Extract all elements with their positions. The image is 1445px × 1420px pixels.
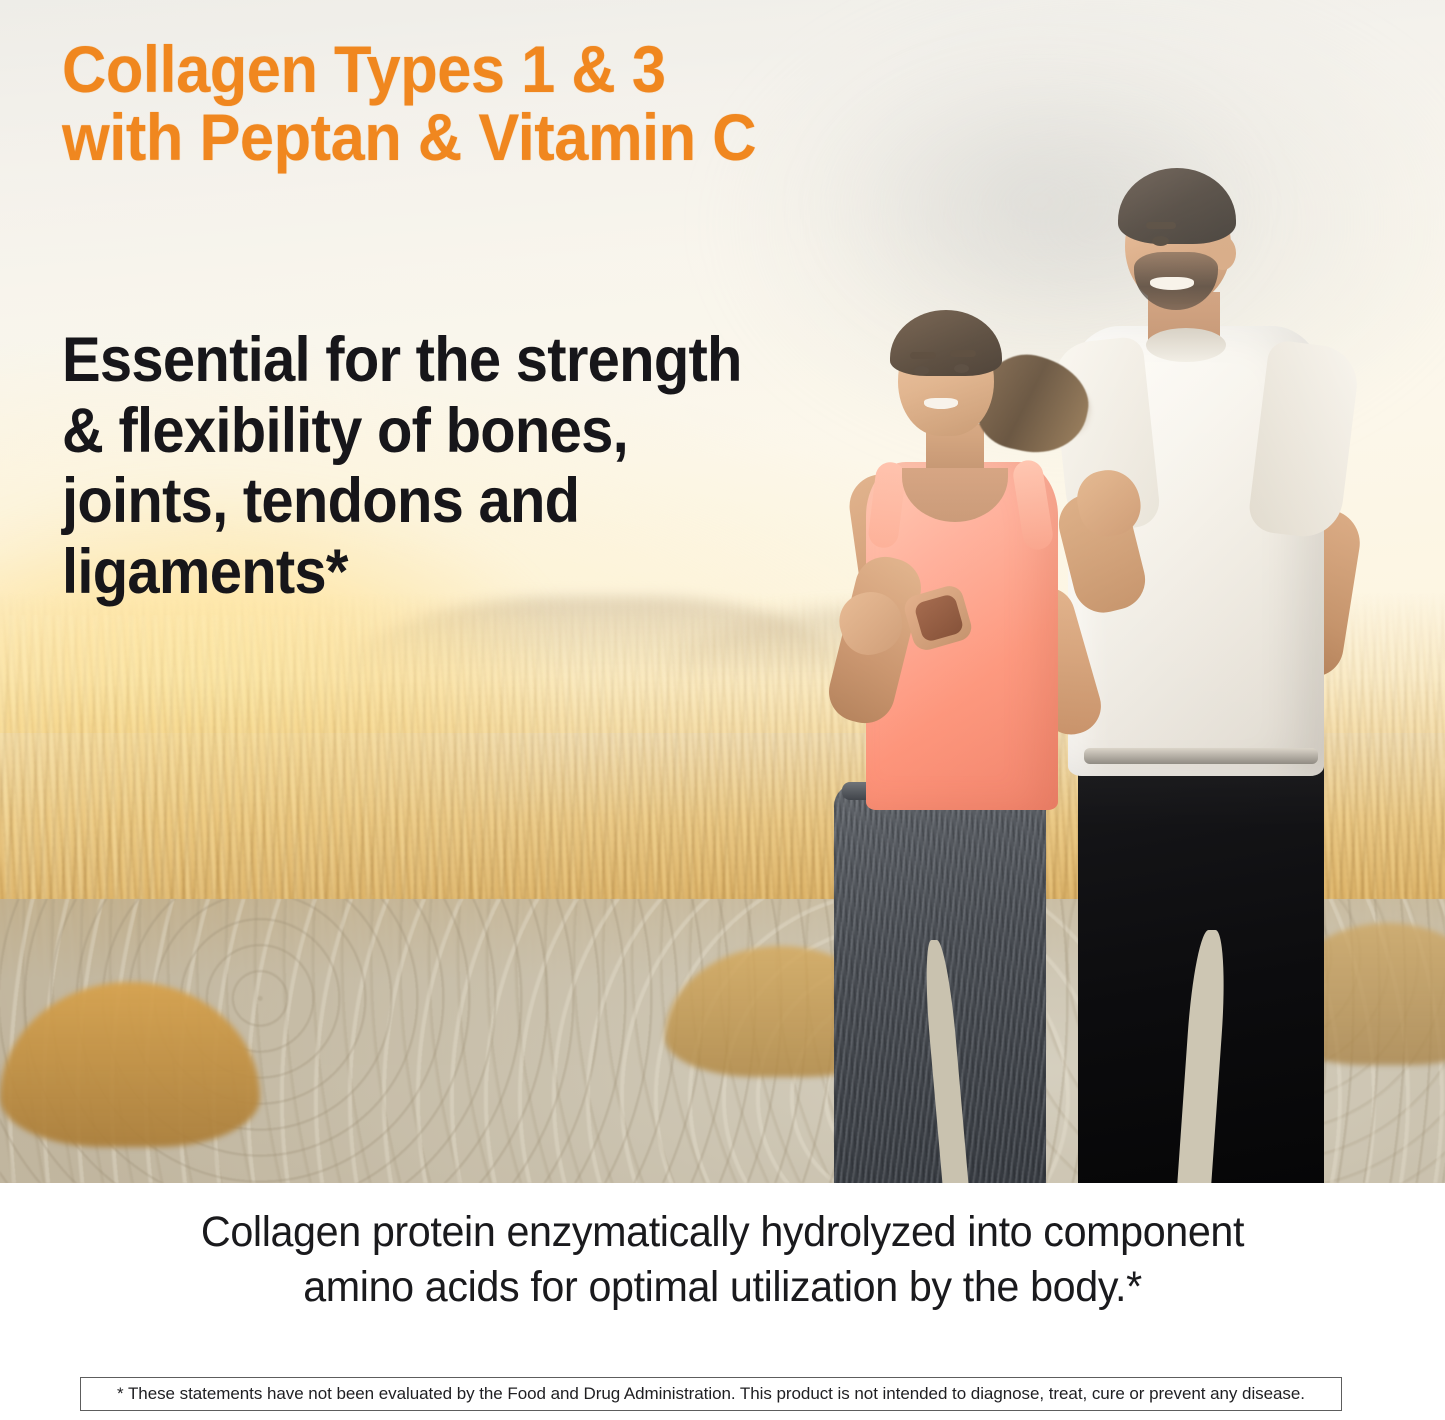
product-infographic: Collagen Types 1 & 3 with Peptan & Vitam… bbox=[0, 0, 1445, 1420]
male-eye bbox=[1152, 236, 1169, 246]
male-collar bbox=[1146, 328, 1226, 362]
male-waistband bbox=[1084, 748, 1318, 764]
female-eyebrow-left bbox=[910, 352, 936, 359]
headline: Collagen Types 1 & 3 with Peptan & Vitam… bbox=[62, 36, 756, 172]
disclaimer-text: * These statements have not been evaluat… bbox=[117, 1384, 1305, 1404]
female-eye-right bbox=[954, 364, 969, 373]
female-eye-left bbox=[914, 366, 929, 375]
male-smile bbox=[1150, 277, 1194, 290]
hero-photo: Collagen Types 1 & 3 with Peptan & Vitam… bbox=[0, 0, 1445, 1183]
female-smile bbox=[924, 398, 958, 409]
disclaimer-box: * These statements have not been evaluat… bbox=[80, 1377, 1342, 1411]
subheadline: Essential for the strength & flexibility… bbox=[62, 325, 742, 607]
male-eyebrow bbox=[1146, 222, 1176, 229]
female-eyebrow-right bbox=[950, 350, 976, 357]
caption-text: Collagen protein enzymatically hydrolyze… bbox=[29, 1205, 1416, 1315]
